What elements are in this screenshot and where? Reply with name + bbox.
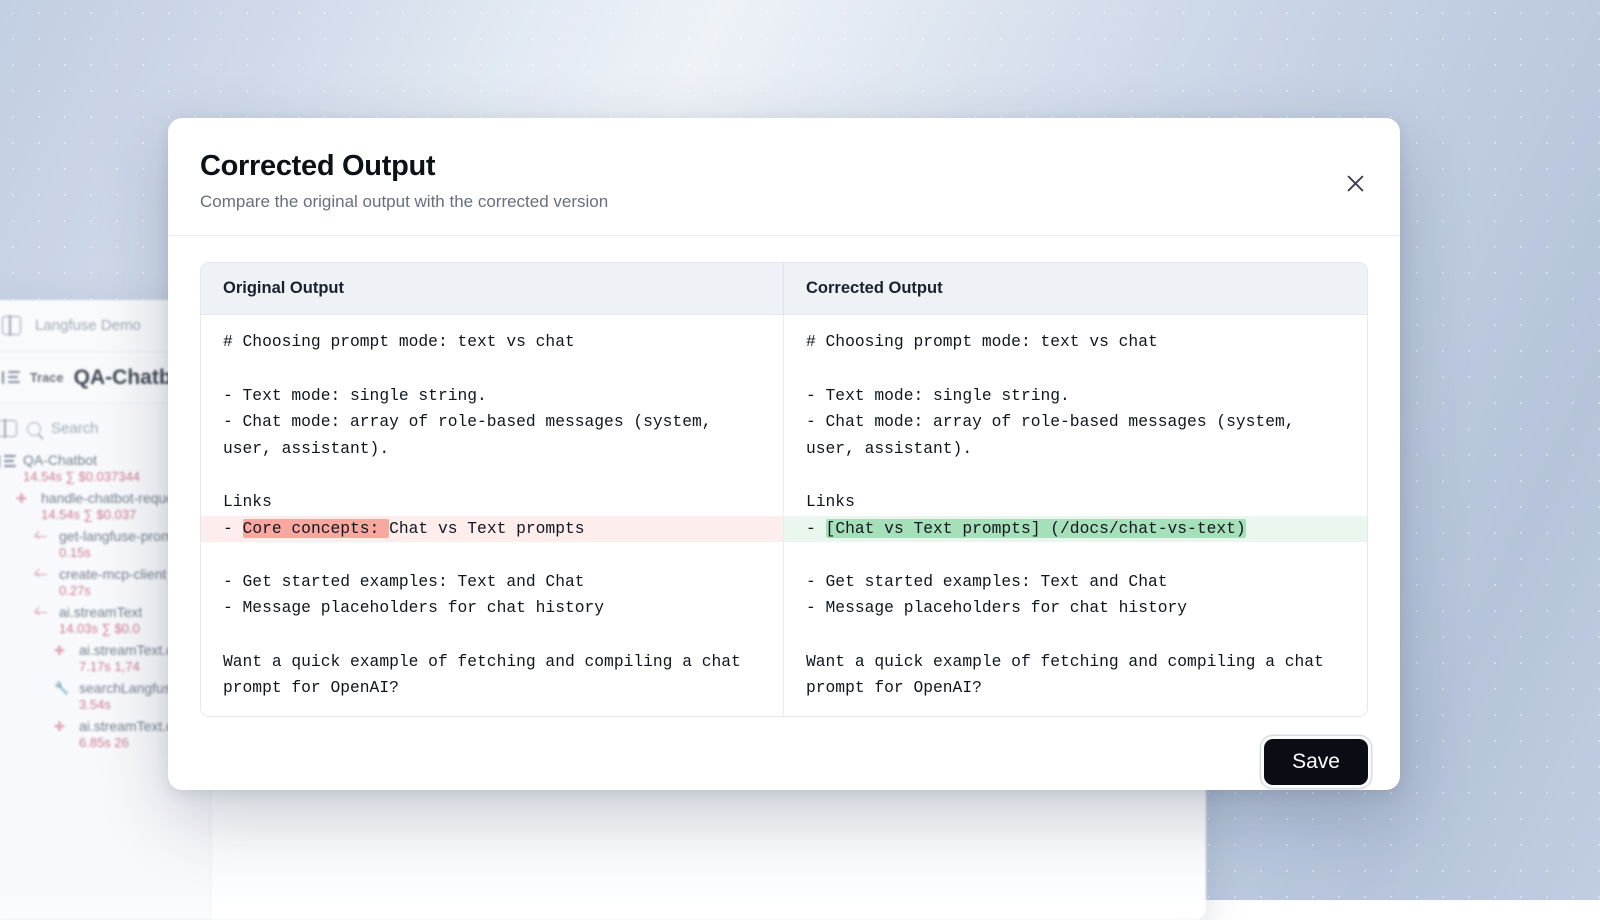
diff-line-context: - Message placeholders for chat history bbox=[201, 595, 783, 622]
diff-highlight: Core concepts: bbox=[243, 519, 390, 538]
dialog-body: Original Output Corrected Output # Choos… bbox=[168, 236, 1400, 716]
diff-line-context: # Choosing prompt mode: text vs chat bbox=[784, 329, 1367, 356]
diff-table-header-row: Original Output Corrected Output bbox=[201, 263, 1367, 315]
dialog-header: Corrected Output Compare the original ou… bbox=[168, 118, 1400, 236]
diff-comparison-table: Original Output Corrected Output # Choos… bbox=[200, 262, 1368, 716]
original-output-code: # Choosing prompt mode: text vs chat - T… bbox=[201, 315, 783, 715]
corrected-output-dialog: Corrected Output Compare the original ou… bbox=[168, 118, 1400, 790]
diff-highlight: [Chat vs Text prompts] (/docs/chat-vs-te… bbox=[826, 519, 1246, 538]
diff-line-context: - Get started examples: Text and Chat bbox=[201, 569, 783, 596]
diff-line-context: Links bbox=[201, 489, 783, 516]
dialog-footer: Save bbox=[168, 717, 1400, 790]
diff-line-context: Want a quick example of fetching and com… bbox=[784, 649, 1367, 702]
diff-line-context: - Text mode: single string. bbox=[784, 383, 1367, 410]
diff-line-blank bbox=[784, 542, 1367, 569]
diff-line-blank bbox=[784, 462, 1367, 489]
dialog-subtitle: Compare the original output with the cor… bbox=[200, 191, 1364, 213]
original-output-cell: # Choosing prompt mode: text vs chat - T… bbox=[201, 315, 784, 715]
corrected-output-code: # Choosing prompt mode: text vs chat - T… bbox=[784, 315, 1367, 715]
diff-line-context: - Chat mode: array of role-based message… bbox=[201, 409, 783, 462]
diff-line-blank bbox=[201, 542, 783, 569]
column-header-corrected: Corrected Output bbox=[784, 263, 1367, 315]
diff-line-removed: - Core concepts: Chat vs Text prompts bbox=[201, 516, 783, 543]
dialog-title: Corrected Output bbox=[200, 150, 1364, 183]
diff-line-blank bbox=[201, 356, 783, 383]
diff-line-context: # Choosing prompt mode: text vs chat bbox=[201, 329, 783, 356]
close-icon[interactable] bbox=[1340, 168, 1370, 198]
diff-line-blank bbox=[784, 622, 1367, 649]
diff-line-added: - [Chat vs Text prompts] (/docs/chat-vs-… bbox=[784, 516, 1367, 543]
save-button[interactable]: Save bbox=[1264, 739, 1368, 785]
diff-line-context: - Message placeholders for chat history bbox=[784, 595, 1367, 622]
diff-line-blank bbox=[201, 622, 783, 649]
diff-line-context: - Chat mode: array of role-based message… bbox=[784, 409, 1367, 462]
diff-line-context: Want a quick example of fetching and com… bbox=[201, 649, 783, 702]
diff-line-context: - Text mode: single string. bbox=[201, 383, 783, 410]
corrected-output-cell: # Choosing prompt mode: text vs chat - T… bbox=[784, 315, 1367, 715]
diff-table-body: # Choosing prompt mode: text vs chat - T… bbox=[201, 315, 1367, 715]
diff-content-row: # Choosing prompt mode: text vs chat - T… bbox=[201, 315, 1367, 715]
diff-line-blank bbox=[784, 356, 1367, 383]
diff-line-context: Links bbox=[784, 489, 1367, 516]
diff-line-context: - Get started examples: Text and Chat bbox=[784, 569, 1367, 596]
diff-table-head: Original Output Corrected Output bbox=[201, 263, 1367, 315]
diff-line-blank bbox=[201, 462, 783, 489]
column-header-original: Original Output bbox=[201, 263, 784, 315]
